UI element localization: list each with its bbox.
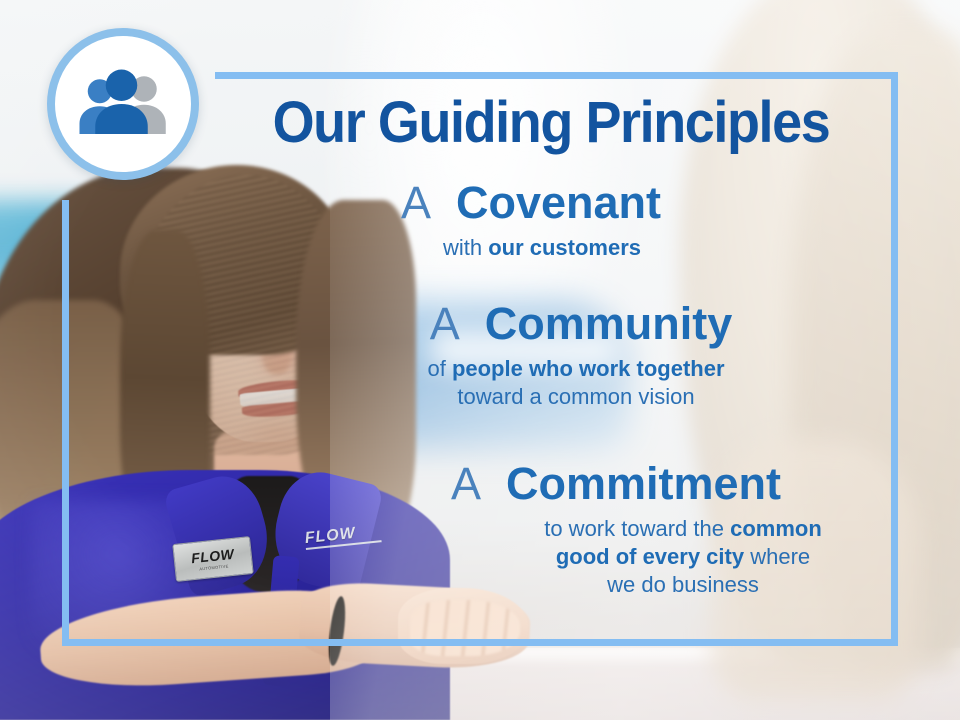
principle-covenant: A Covenant with our customers xyxy=(218,179,884,262)
principle-commitment-heading: A Commitment xyxy=(218,460,884,508)
principle-3-sub-bold-2: good of every city xyxy=(556,544,744,569)
principle-covenant-heading: A Covenant xyxy=(218,179,884,227)
principle-1-sub-plain: with xyxy=(443,235,488,260)
principle-covenant-subtext: with our customers xyxy=(218,234,884,262)
guiding-principles-poster: FLOW AUTOMOTIVE FLOW xyxy=(0,0,960,720)
principle-3-keyword: Commitment xyxy=(506,458,781,509)
principle-3-sub-plain: to work toward the xyxy=(544,516,730,541)
principle-commitment-subtext: to work toward the common good of every … xyxy=(324,515,884,599)
people-group-icon xyxy=(75,68,171,140)
principle-community-heading: A Community xyxy=(218,300,884,348)
principle-2-sub-plain: of xyxy=(427,356,451,381)
principle-3-sub-bold-1: common xyxy=(730,516,822,541)
principle-2-sub-line2: toward a common vision xyxy=(457,384,694,409)
principle-2-article: A xyxy=(430,298,473,349)
principle-commitment: A Commitment to work toward the common g… xyxy=(218,460,884,599)
principle-community-subtext: of people who work together toward a com… xyxy=(218,355,884,411)
principle-3-sub-line3: we do business xyxy=(607,572,759,597)
principle-3-article: A xyxy=(451,458,494,509)
principle-3-sub-plain-2: where xyxy=(744,544,810,569)
principle-community: A Community of people who work together … xyxy=(218,300,884,411)
people-group-icon-badge xyxy=(47,28,199,180)
principle-1-keyword: Covenant xyxy=(456,177,661,228)
principle-2-sub-bold: people who work together xyxy=(452,356,725,381)
principle-1-article: A xyxy=(401,177,444,228)
principle-2-keyword: Community xyxy=(485,298,733,349)
principle-1-sub-bold: our customers xyxy=(488,235,641,260)
principles-content: Our Guiding Principles A Covenant with o… xyxy=(200,72,900,646)
page-title: Our Guiding Principles xyxy=(241,94,860,152)
